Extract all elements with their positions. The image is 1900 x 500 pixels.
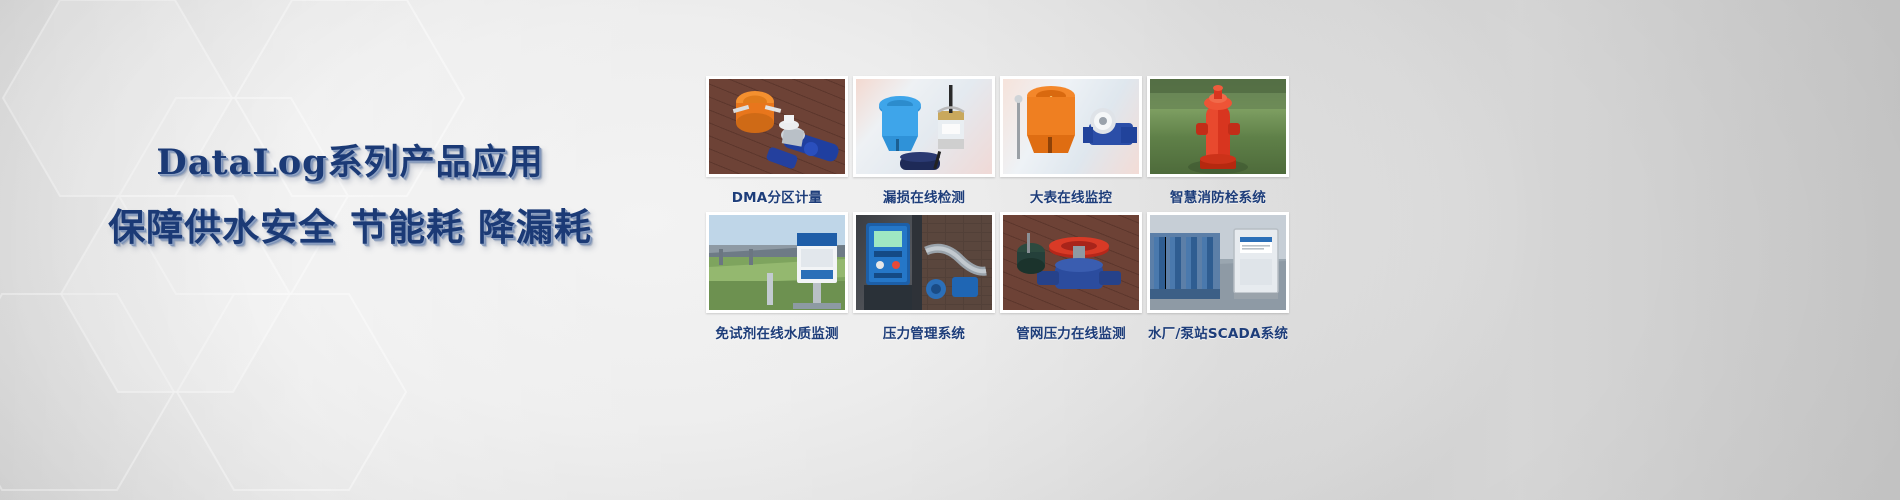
product-tile[interactable]: 免试剂在线水质监测 bbox=[706, 212, 848, 342]
reagent-free-water-quality-monitoring-photo bbox=[709, 215, 845, 310]
thumbnail-frame[interactable] bbox=[853, 76, 995, 177]
large-meter-artwork: ● bbox=[1003, 79, 1139, 174]
leakage-online-detection-photo bbox=[856, 79, 992, 174]
product-tile[interactable]: 智慧消防栓系统 bbox=[1147, 76, 1289, 206]
smart-fire-hydrant-system-photo bbox=[1150, 79, 1286, 174]
scada-cabinet-artwork bbox=[1150, 215, 1286, 310]
banner-headline: DataLog系列产品应用 保障供水安全 节能耗 降漏耗 bbox=[0, 140, 700, 250]
product-application-grid: DMA分区计量 bbox=[706, 76, 1289, 342]
thumbnail-frame[interactable] bbox=[1000, 212, 1142, 313]
thumbnail-frame[interactable] bbox=[706, 76, 848, 177]
thumbnail-frame[interactable] bbox=[853, 212, 995, 313]
product-tile[interactable]: 水厂/泵站SCADA系统 bbox=[1147, 212, 1289, 342]
headline-line-2: 保障供水安全 节能耗 降漏耗 bbox=[0, 204, 700, 250]
thumbnail-frame[interactable] bbox=[1147, 212, 1289, 313]
dma-artwork bbox=[709, 79, 845, 174]
product-tile[interactable]: 漏损在线检测 bbox=[853, 76, 995, 206]
tile-caption: DMA分区计量 bbox=[706, 186, 848, 206]
water-quality-station-artwork bbox=[709, 215, 845, 310]
tile-caption: 智慧消防栓系统 bbox=[1147, 186, 1289, 206]
leak-detection-artwork bbox=[856, 79, 992, 174]
dma-district-metering-photo bbox=[709, 79, 845, 174]
product-tile[interactable]: 管网压力在线监测 bbox=[1000, 212, 1142, 342]
valve-wheel-artwork bbox=[1003, 215, 1139, 310]
product-tile[interactable]: DMA分区计量 bbox=[706, 76, 848, 206]
tile-caption: 水厂/泵站SCADA系统 bbox=[1131, 322, 1305, 342]
thumbnail-frame[interactable] bbox=[706, 212, 848, 313]
pressure-management-system-photo bbox=[856, 215, 992, 310]
pipe-network-pressure-monitoring-photo bbox=[1003, 215, 1139, 310]
tile-caption: 漏损在线检测 bbox=[853, 186, 995, 206]
product-tile[interactable]: ● 大表在线监控 bbox=[1000, 76, 1142, 206]
thumbnail-frame[interactable]: ● bbox=[1000, 76, 1142, 177]
fire-hydrant-artwork bbox=[1150, 79, 1286, 174]
tile-caption: 免试剂在线水质监测 bbox=[706, 322, 848, 342]
tile-caption: 压力管理系统 bbox=[853, 322, 995, 342]
tile-caption: 大表在线监控 bbox=[1000, 186, 1142, 206]
product-tile[interactable]: 压力管理系统 bbox=[853, 212, 995, 342]
pressure-panel-artwork bbox=[856, 215, 992, 310]
large-meter-online-monitoring-photo: ● bbox=[1003, 79, 1139, 174]
thumbnail-frame[interactable] bbox=[1147, 76, 1289, 177]
product-application-banner: DataLog系列产品应用 保障供水安全 节能耗 降漏耗 bbox=[0, 0, 1900, 500]
headline-line-1: DataLog系列产品应用 bbox=[0, 140, 700, 186]
waterworks-pump-station-scada-photo bbox=[1150, 215, 1286, 310]
